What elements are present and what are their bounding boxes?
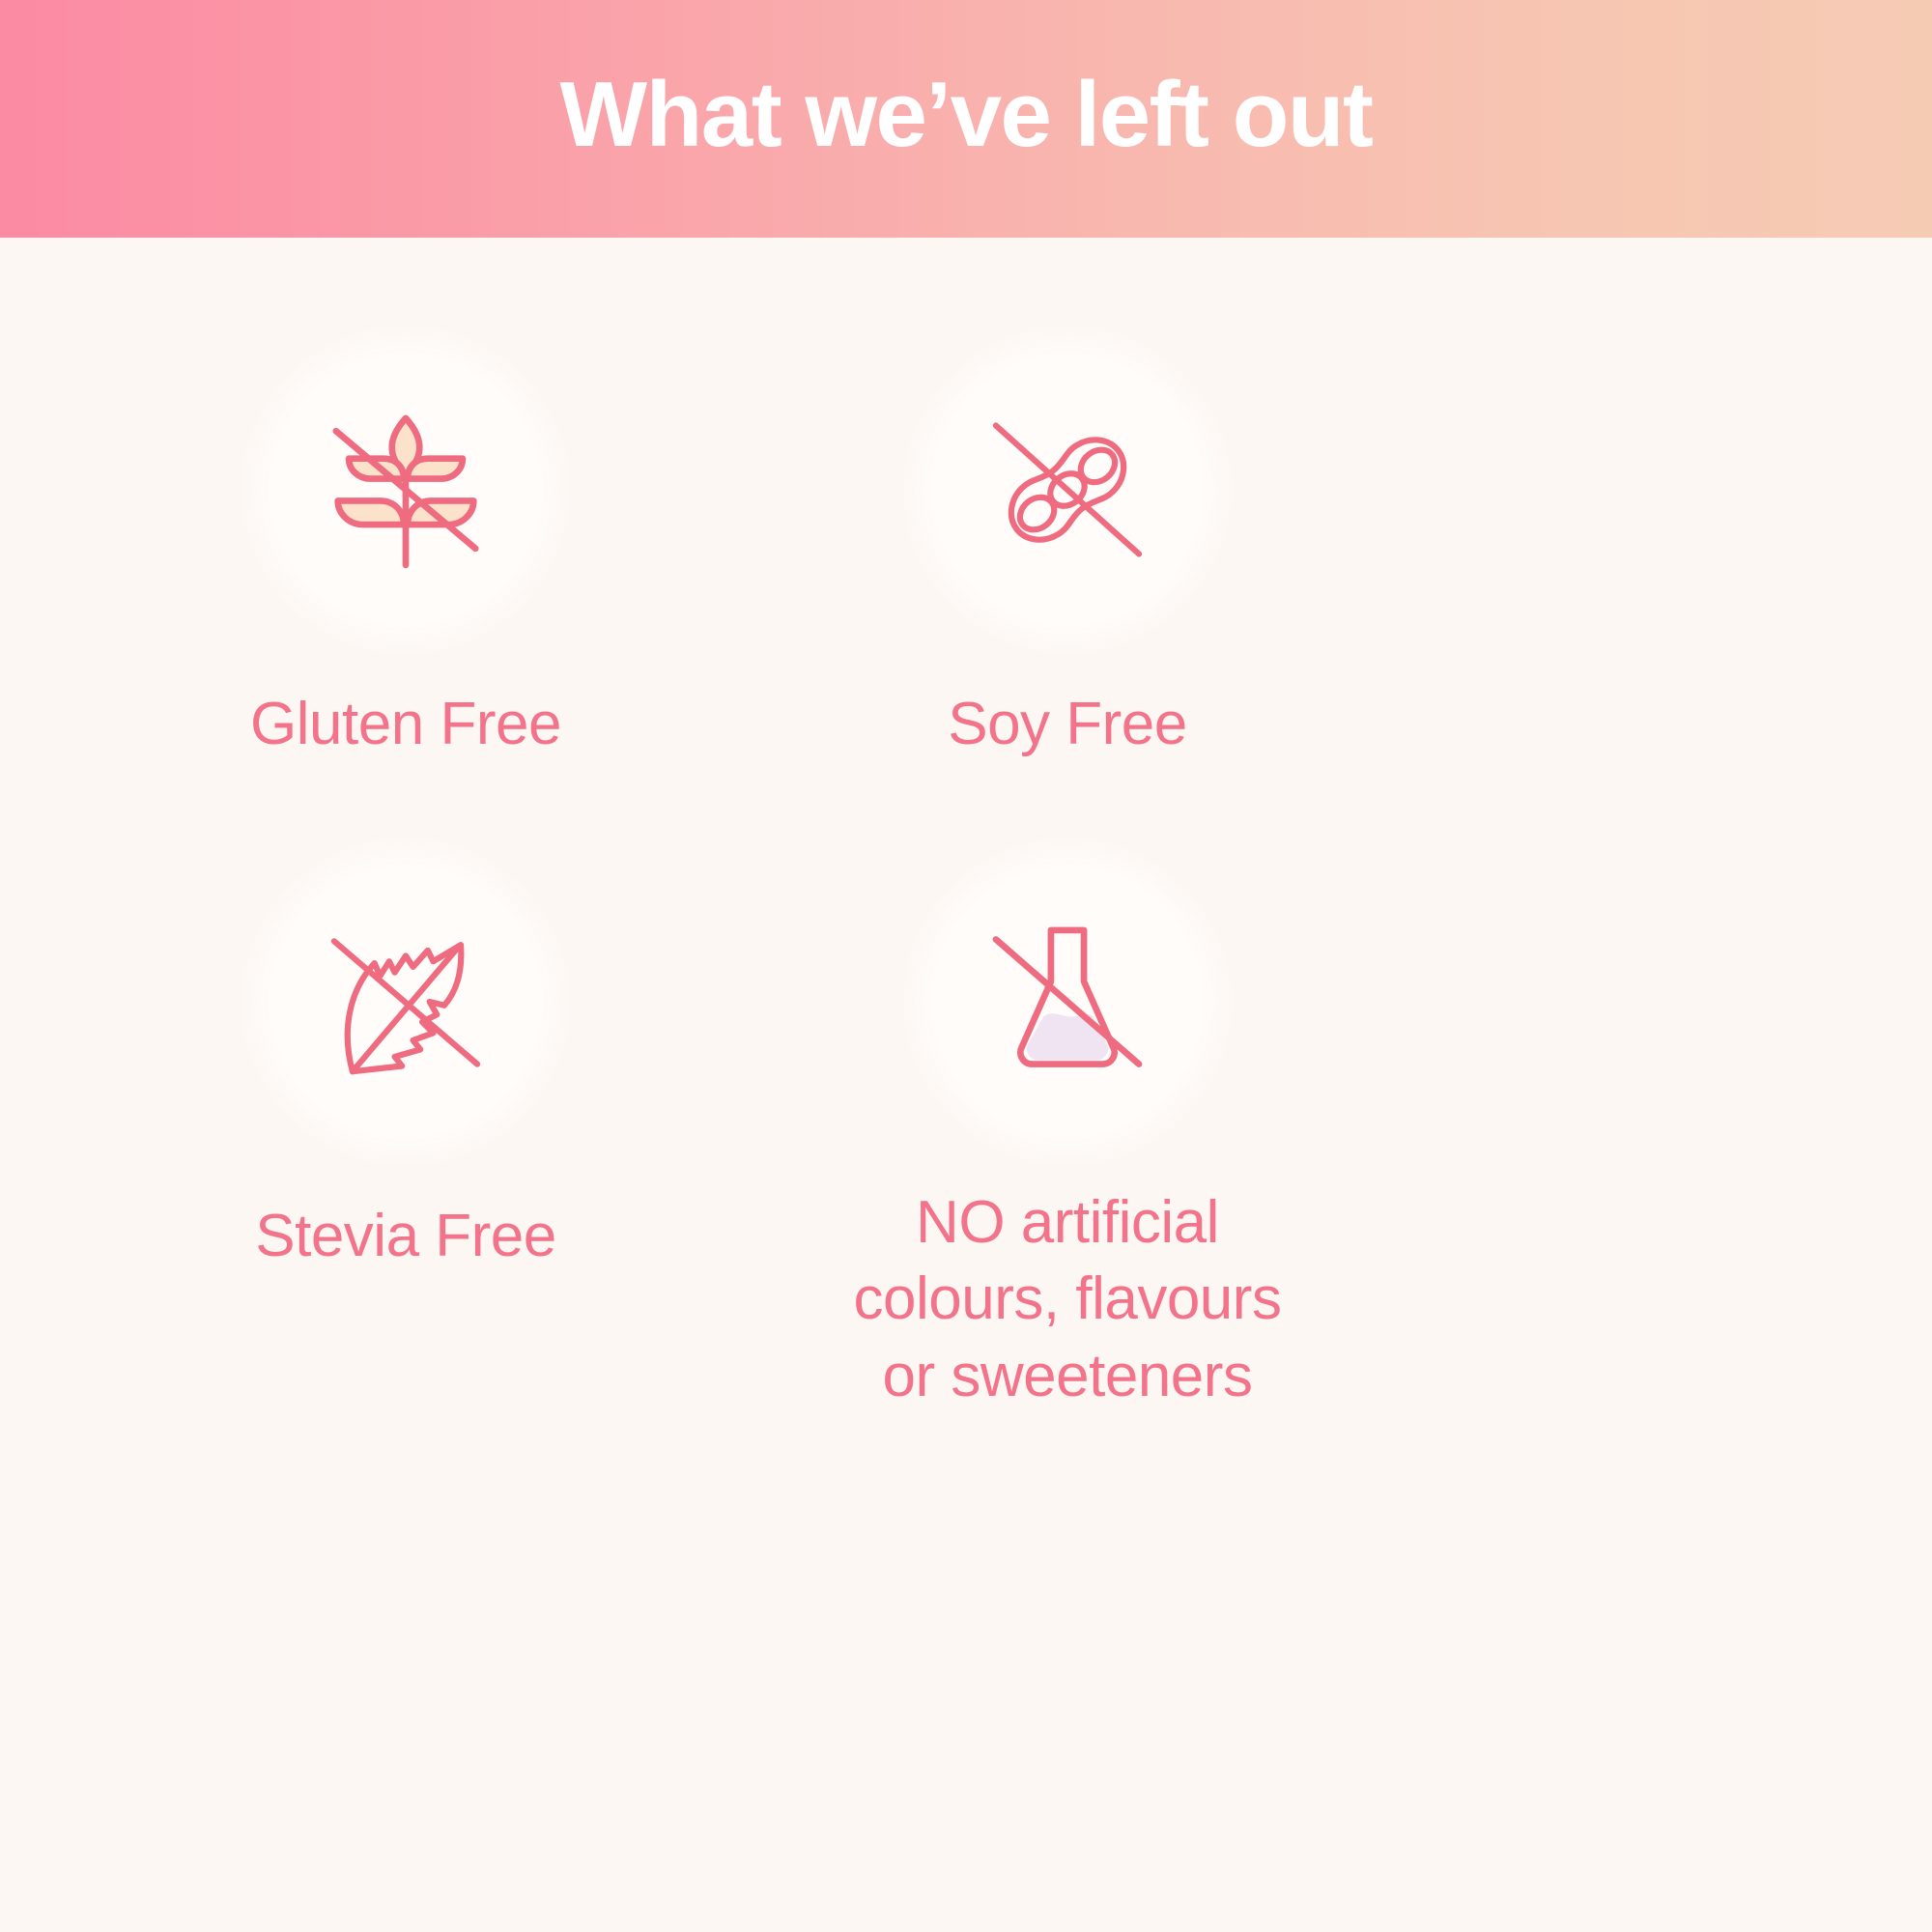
no-artificial-flask-icon — [976, 910, 1159, 1094]
page-title: What we’ve left out — [560, 69, 1373, 161]
no-soy-bean-pod-icon — [976, 398, 1159, 582]
feature-card-no-artificial: NO artificial colours, flavours or sweet… — [729, 866, 1406, 1414]
promo-graphic: What we’ve left out — [0, 0, 1932, 1932]
feature-card-gluten-free: Gluten Free — [68, 354, 744, 762]
feature-label: Soy Free — [729, 686, 1406, 762]
no-gluten-wheat-icon — [314, 398, 497, 582]
icon-circle — [270, 866, 542, 1138]
icon-circle — [270, 354, 542, 626]
feature-label: Stevia Free — [68, 1198, 744, 1274]
feature-card-stevia-free: Stevia Free — [68, 866, 744, 1274]
no-stevia-leaf-icon — [314, 910, 497, 1094]
header-band: What we’ve left out — [0, 0, 1932, 238]
feature-label: NO artificial colours, flavours or sweet… — [729, 1184, 1406, 1414]
icon-circle — [931, 866, 1204, 1138]
icon-circle — [931, 354, 1204, 626]
feature-card-soy-free: Soy Free — [729, 354, 1406, 762]
feature-grid: Gluten Free — [0, 238, 1932, 1932]
feature-label: Gluten Free — [68, 686, 744, 762]
